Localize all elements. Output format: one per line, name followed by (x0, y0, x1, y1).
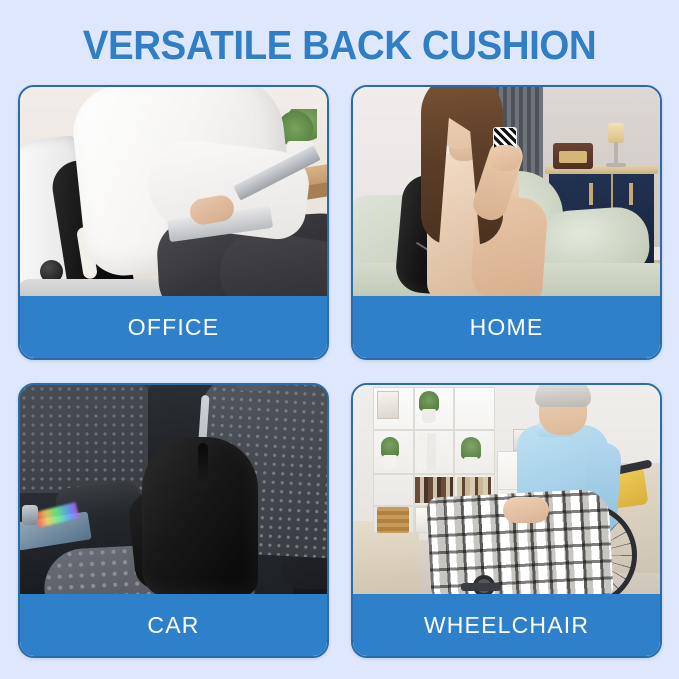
shelf-plant-pot (464, 457, 478, 471)
home-lamp-shade (608, 123, 624, 143)
wheelchair-person-hair (535, 385, 591, 407)
home-person-hand (489, 145, 521, 171)
home-photo (353, 87, 660, 300)
shelf-binder (427, 433, 436, 471)
use-case-grid: OFFICE (18, 85, 662, 655)
shelf-plant-icon (419, 391, 439, 411)
shelf-picture-frame (377, 391, 399, 419)
use-case-card-home[interactable]: HOME (351, 85, 662, 360)
home-radio-face (559, 151, 587, 163)
shelf-divider (373, 473, 495, 475)
car-headrest (236, 385, 272, 391)
shelf-divider (373, 429, 495, 431)
shelf-wicker-basket (377, 507, 409, 533)
home-cabinet-handle (589, 183, 593, 205)
home-lamp-base (606, 163, 626, 167)
shelf-plant-icon (381, 437, 399, 457)
card-label-wheelchair: WHEELCHAIR (353, 594, 660, 656)
use-case-card-office[interactable]: OFFICE (18, 85, 329, 360)
car-cushion-groove (198, 443, 208, 489)
office-plant-icon (281, 109, 317, 145)
home-cabinet-handle (629, 183, 633, 205)
page-title: VERSATILE BACK CUSHION (20, 22, 658, 69)
infographic-root: VERSATILE BACK CUSHION (0, 0, 679, 679)
card-label-car: CAR (20, 594, 327, 656)
card-label-office: OFFICE (20, 296, 327, 358)
wheelchair-person-hands (503, 497, 549, 523)
shelf-binder (417, 433, 426, 471)
card-label-home: HOME (353, 296, 660, 358)
car-gear-selector (22, 505, 38, 525)
shelf-plant-icon (461, 437, 481, 459)
shelf-plant-pot (383, 455, 397, 469)
use-case-card-wheelchair[interactable]: WHEELCHAIR (351, 383, 662, 658)
car-photo (20, 385, 327, 598)
use-case-card-car[interactable]: CAR (18, 383, 329, 658)
office-photo (20, 87, 327, 300)
shelf-plant-pot (422, 409, 436, 423)
wheelchair-photo (353, 385, 660, 598)
wheelchair-footplate (461, 583, 501, 591)
